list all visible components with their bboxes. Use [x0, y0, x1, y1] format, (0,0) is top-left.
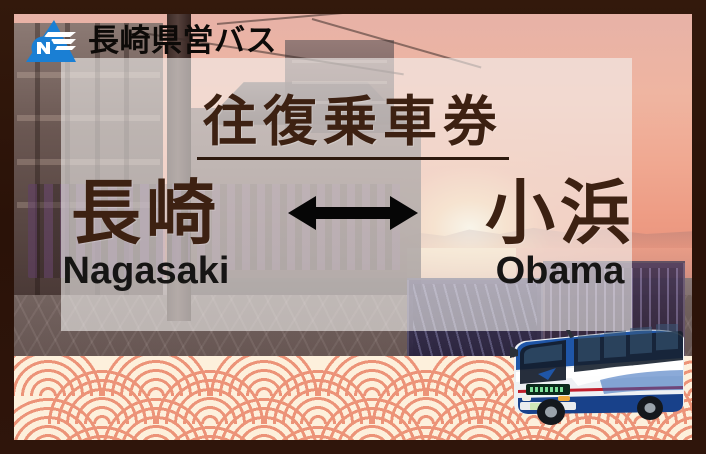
route-row: 長崎 Nagasaki 小浜 Obama [0, 178, 706, 292]
ticket-title: 往復乗車券 [197, 94, 509, 160]
destination-name-en: Obama [444, 252, 676, 292]
round-trip-ticket-graphic: 長崎県営バス 往復乗車券 長崎 Nagasaki 小浜 Obama [0, 0, 706, 454]
origin-name-en: Nagasaki [30, 252, 262, 292]
nagasaki-kenei-bus-logo-icon [24, 18, 78, 64]
destination-name-jp: 小浜 [444, 178, 676, 248]
double-headed-arrow-icon [288, 190, 418, 280]
brand-wordmark: 長崎県営バス [88, 26, 277, 57]
brand-header: 長崎県営バス [24, 18, 277, 64]
ticket-title-area: 往復乗車券 [0, 94, 706, 160]
origin-name-jp: 長崎 [30, 178, 262, 248]
origin-station: 長崎 Nagasaki [30, 178, 262, 292]
highway-coach-bus-photo-icon [504, 324, 688, 428]
destination-station: 小浜 Obama [444, 178, 676, 292]
